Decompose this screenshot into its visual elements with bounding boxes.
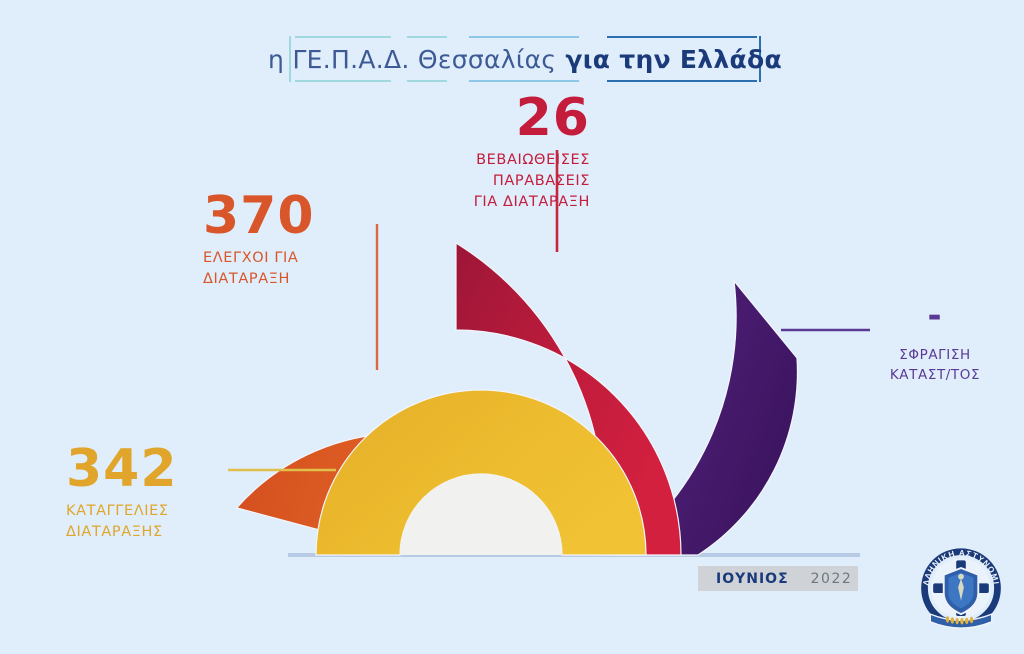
stat-desc-inspections-line1: ΕΛΕΓΧΟΙ ΓΙΑ <box>203 250 298 266</box>
stat-block-inspections: 370 ΕΛΕΓΧΟΙ ΓΙΑ ΔΙΑΤΑΡΑΞΗ <box>203 190 315 290</box>
stat-value-complaints: 342 <box>66 443 178 495</box>
stat-value-closures: - <box>860 306 1010 326</box>
stat-desc-violations-line1: ΒΕΒΑΙΩΘΕΙΣΕΣ <box>476 152 590 168</box>
stat-block-complaints: 342 ΚΑΤΑΓΓΕΛΙΕΣ ΔΙΑΤΑΡΑΞΗΣ <box>66 443 178 543</box>
arc-segment-purple <box>617 281 797 555</box>
title-text-container: η ΓΕ.Π.Α.Δ. Θεσσαλίας για την Ελλάδα <box>289 36 761 82</box>
date-badge: ΙΟΥΝΙΟΣ 2022 <box>698 566 858 591</box>
stat-desc-closures-line2: ΚΑΤΑΣΤ/ΤΟΣ <box>890 367 980 383</box>
arc-inner-core <box>400 474 562 555</box>
date-badge-month: ΙΟΥΝΙΟΣ <box>716 571 789 587</box>
stat-desc-complaints: ΚΑΤΑΓΓΕΛΙΕΣ ΔΙΑΤΑΡΑΞΗΣ <box>66 501 178 543</box>
title-text-bold: για την Ελλάδα <box>565 45 782 74</box>
infographic-root: η ΓΕ.Π.Α.Δ. Θεσσαλίας για την Ελλάδα <box>0 0 1024 654</box>
chart-baseline <box>288 553 860 557</box>
arc-segment-orange <box>231 354 567 649</box>
stat-desc-violations: ΒΕΒΑΙΩΘΕΙΣΕΣ ΠΑΡΑΒΑΣΕΙΣ ΓΙΑ ΔΙΑΤΑΡΑΞΗ <box>430 150 590 213</box>
arc-segment-yellow <box>316 390 646 555</box>
stat-block-closures: - ΣΦΡΑΓΙΣΗ ΚΑΤΑΣΤ/ΤΟΣ <box>860 306 1010 386</box>
stat-desc-closures: ΣΦΡΑΓΙΣΗ ΚΑΤΑΣΤ/ΤΟΣ <box>860 346 1010 385</box>
logo-figure-head <box>958 574 964 580</box>
page-title: η ΓΕ.Π.Α.Δ. Θεσσαλίας για την Ελλάδα <box>289 36 761 82</box>
stat-value-inspections: 370 <box>203 190 315 242</box>
arc-segment-red <box>456 243 681 555</box>
hellenic-police-logo: ΕΛΛΗΝΙΚΗ ΑΣΤΥΝΟΜΙΑ <box>913 545 1009 641</box>
stat-desc-violations-line3: ΓΙΑ ΔΙΑΤΑΡΑΞΗ <box>474 194 590 210</box>
stat-desc-complaints-line2: ΔΙΑΤΑΡΑΞΗΣ <box>66 524 163 540</box>
stat-desc-complaints-line1: ΚΑΤΑΓΓΕΛΙΕΣ <box>66 503 169 519</box>
stat-desc-inspections-line2: ΔΙΑΤΑΡΑΞΗ <box>203 271 290 287</box>
stat-value-violations: 26 <box>430 92 590 144</box>
title-text-light: η ΓΕ.Π.Α.Δ. Θεσσαλίας <box>268 45 556 74</box>
stat-desc-violations-line2: ΠΑΡΑΒΑΣΕΙΣ <box>493 173 590 189</box>
stat-desc-inspections: ΕΛΕΓΧΟΙ ΓΙΑ ΔΙΑΤΑΡΑΞΗ <box>203 248 315 290</box>
date-badge-year: 2022 <box>811 571 853 587</box>
stat-block-violations: 26 ΒΕΒΑΙΩΘΕΙΣΕΣ ΠΑΡΑΒΑΣΕΙΣ ΓΙΑ ΔΙΑΤΑΡΑΞΗ <box>430 92 590 213</box>
stat-desc-closures-line1: ΣΦΡΑΓΙΣΗ <box>899 347 971 363</box>
